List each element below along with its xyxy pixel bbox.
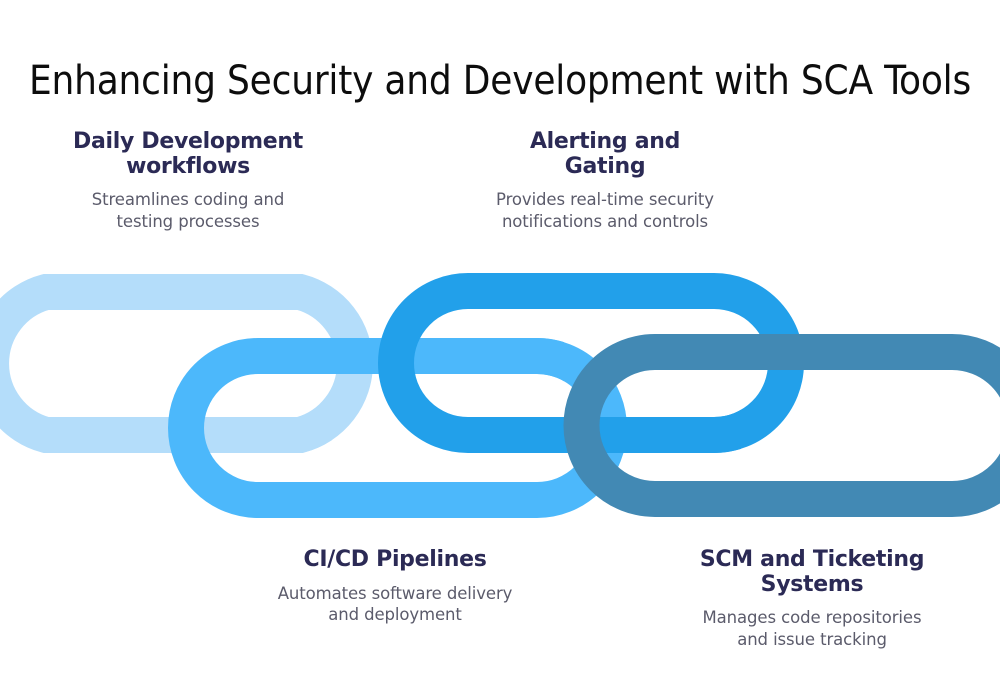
caption-scm-and-ticketing-systems: SCM and Ticketing Systems Manages code r… (662, 548, 962, 651)
caption-description: Manages code repositories and issue trac… (662, 607, 962, 651)
caption-description-line: and issue tracking (737, 630, 887, 649)
caption-description: Streamlines coding and testing processes (38, 189, 338, 233)
caption-heading: SCM and Ticketing Systems (662, 548, 962, 597)
caption-ci-cd-pipelines: CI/CD Pipelines Automates software deliv… (245, 548, 545, 626)
caption-description-line: Streamlines coding and (92, 190, 285, 209)
caption-heading-line: CI/CD Pipelines (303, 547, 486, 572)
caption-heading-line: Systems (761, 572, 864, 597)
caption-description-line: Manages code repositories (703, 608, 922, 627)
caption-heading-line: Alerting and (530, 129, 680, 154)
caption-alerting-and-gating: Alerting and Gating Provides real-time s… (455, 130, 755, 233)
caption-heading-line: Gating (565, 154, 646, 179)
caption-heading: Daily Development workflows (38, 130, 338, 179)
caption-description-line: Automates software delivery (278, 584, 513, 603)
caption-description-line: Provides real-time security (496, 190, 714, 209)
caption-heading-line: workflows (126, 154, 250, 179)
caption-description: Automates software delivery and deployme… (245, 583, 545, 627)
caption-description-line: notifications and controls (502, 212, 708, 231)
caption-daily-development-workflows: Daily Development workflows Streamlines … (38, 130, 338, 233)
caption-heading: Alerting and Gating (455, 130, 755, 179)
caption-description-line: testing processes (117, 212, 260, 231)
caption-heading-line: Daily Development (73, 129, 303, 154)
caption-heading: CI/CD Pipelines (245, 548, 545, 573)
caption-description: Provides real-time security notification… (455, 189, 755, 233)
caption-description-line: and deployment (328, 605, 462, 624)
caption-heading-line: SCM and Ticketing (700, 547, 924, 572)
infographic-canvas: Enhancing Security and Development with … (0, 0, 1000, 700)
